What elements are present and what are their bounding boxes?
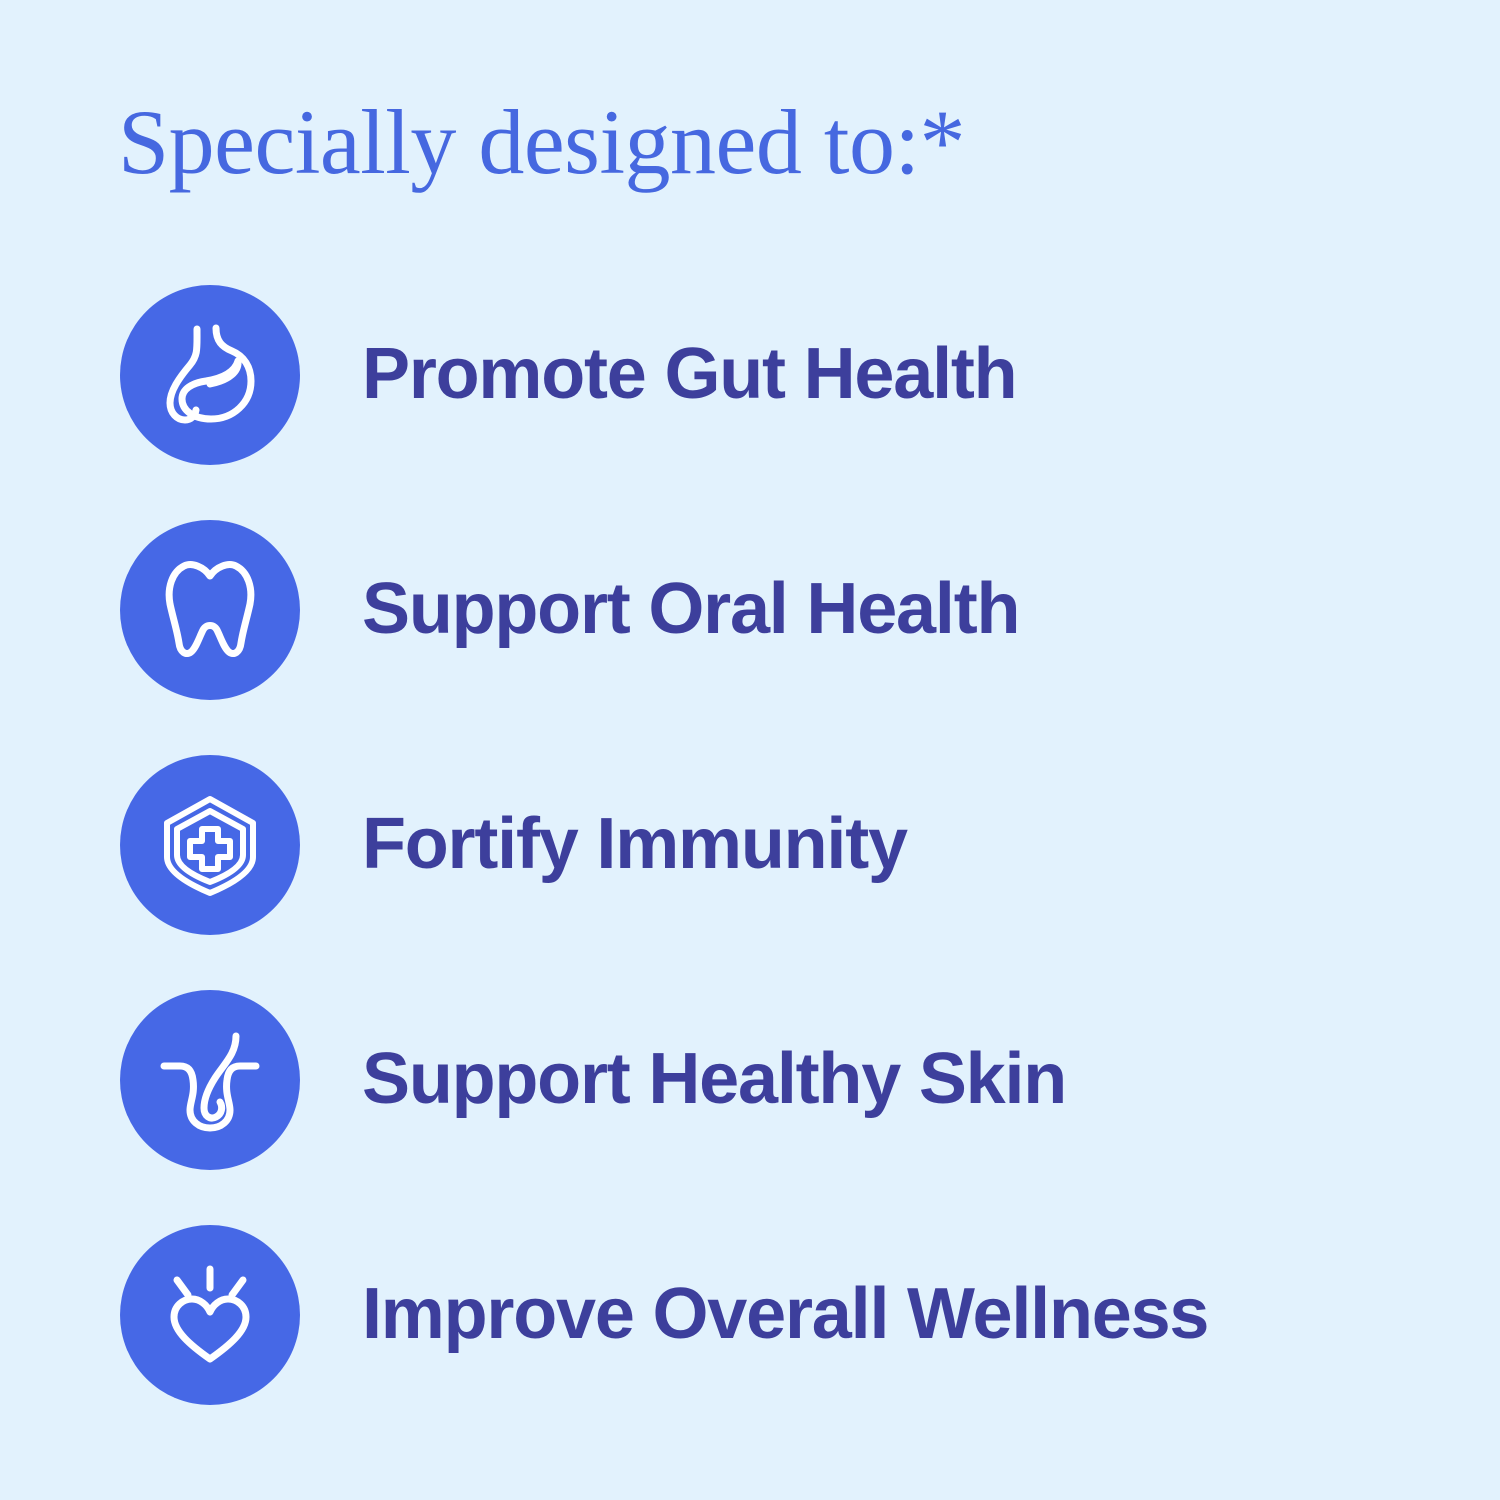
icon-badge: [120, 285, 300, 465]
icon-badge: [120, 520, 300, 700]
benefit-label: Support Oral Health: [362, 572, 1019, 648]
radiant-heart-icon: [150, 1255, 270, 1375]
benefit-row: Improve Overall Wellness: [0, 1225, 1500, 1405]
tooth-icon: [150, 550, 270, 670]
shield-cross-icon: [150, 785, 270, 905]
benefit-list: Promote Gut Health Support Oral Health: [0, 285, 1500, 1405]
stomach-icon: [150, 315, 270, 435]
benefit-row: Fortify Immunity: [0, 755, 1500, 935]
benefit-label: Improve Overall Wellness: [362, 1277, 1208, 1353]
icon-badge: [120, 1225, 300, 1405]
icon-badge: [120, 755, 300, 935]
benefit-label: Fortify Immunity: [362, 807, 907, 883]
icon-badge: [120, 990, 300, 1170]
benefits-panel: Specially designed to:* Promote Gut Heal…: [0, 0, 1500, 1500]
benefit-row: Support Oral Health: [0, 520, 1500, 700]
hair-follicle-icon: [150, 1020, 270, 1140]
benefit-row: Promote Gut Health: [0, 285, 1500, 465]
benefit-row: Support Healthy Skin: [0, 990, 1500, 1170]
benefit-label: Support Healthy Skin: [362, 1042, 1066, 1118]
benefit-label: Promote Gut Health: [362, 337, 1016, 413]
page-title: Specially designed to:*: [118, 96, 1398, 188]
